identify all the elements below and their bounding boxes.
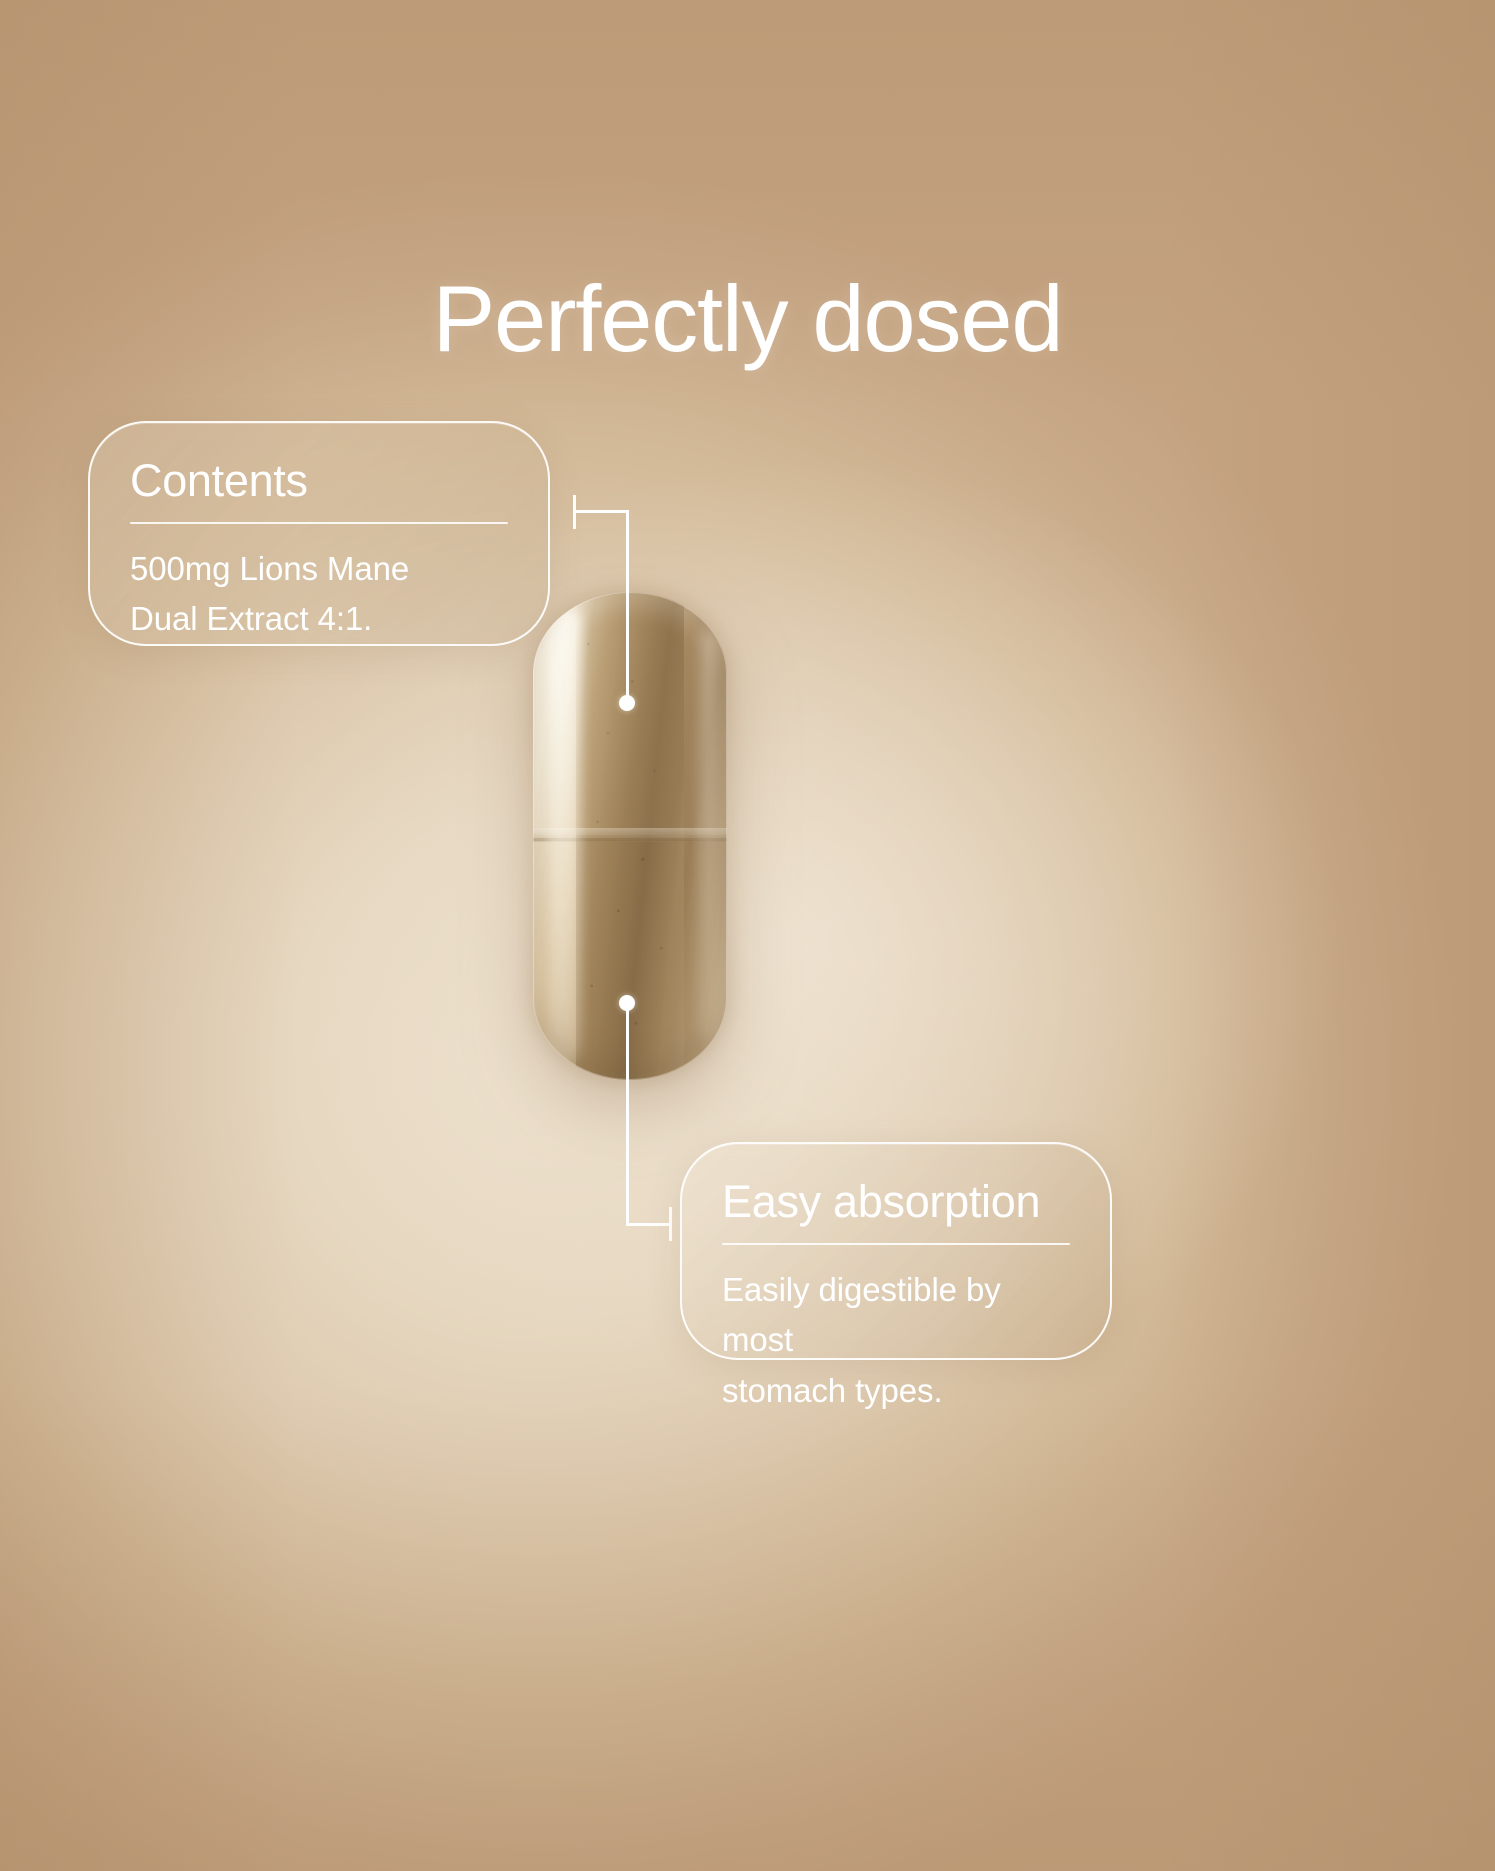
- capsule-edge: [533, 592, 727, 1080]
- callout-card-contents: Contents 500mg Lions Mane Dual Extract 4…: [88, 421, 550, 646]
- callout-body-line: Easily digestible by most: [722, 1265, 1070, 1365]
- callout-body-absorption: Easily digestible by most stomach types.: [722, 1265, 1070, 1415]
- callout-body-contents: 500mg Lions Mane Dual Extract 4:1.: [130, 544, 508, 644]
- callout-card-absorption: Easy absorption Easily digestible by mos…: [680, 1142, 1112, 1360]
- callout-body-line: 500mg Lions Mane: [130, 544, 508, 594]
- capsule-image: [533, 592, 727, 1080]
- callout-body-line: Dual Extract 4:1.: [130, 594, 508, 644]
- callout-card-absorption-inner: Easy absorption Easily digestible by mos…: [682, 1144, 1110, 1456]
- callout-card-contents-inner: Contents 500mg Lions Mane Dual Extract 4…: [90, 423, 548, 685]
- callout-title-absorption: Easy absorption: [722, 1178, 1070, 1225]
- callout-divider-contents: [130, 522, 508, 524]
- page-title: Perfectly dosed: [0, 269, 1495, 369]
- callout-divider-absorption: [722, 1243, 1070, 1245]
- promo-canvas: Perfectly dosed Contents: [0, 0, 1495, 1871]
- callout-body-line: stomach types.: [722, 1366, 1070, 1416]
- callout-title-contents: Contents: [130, 457, 508, 504]
